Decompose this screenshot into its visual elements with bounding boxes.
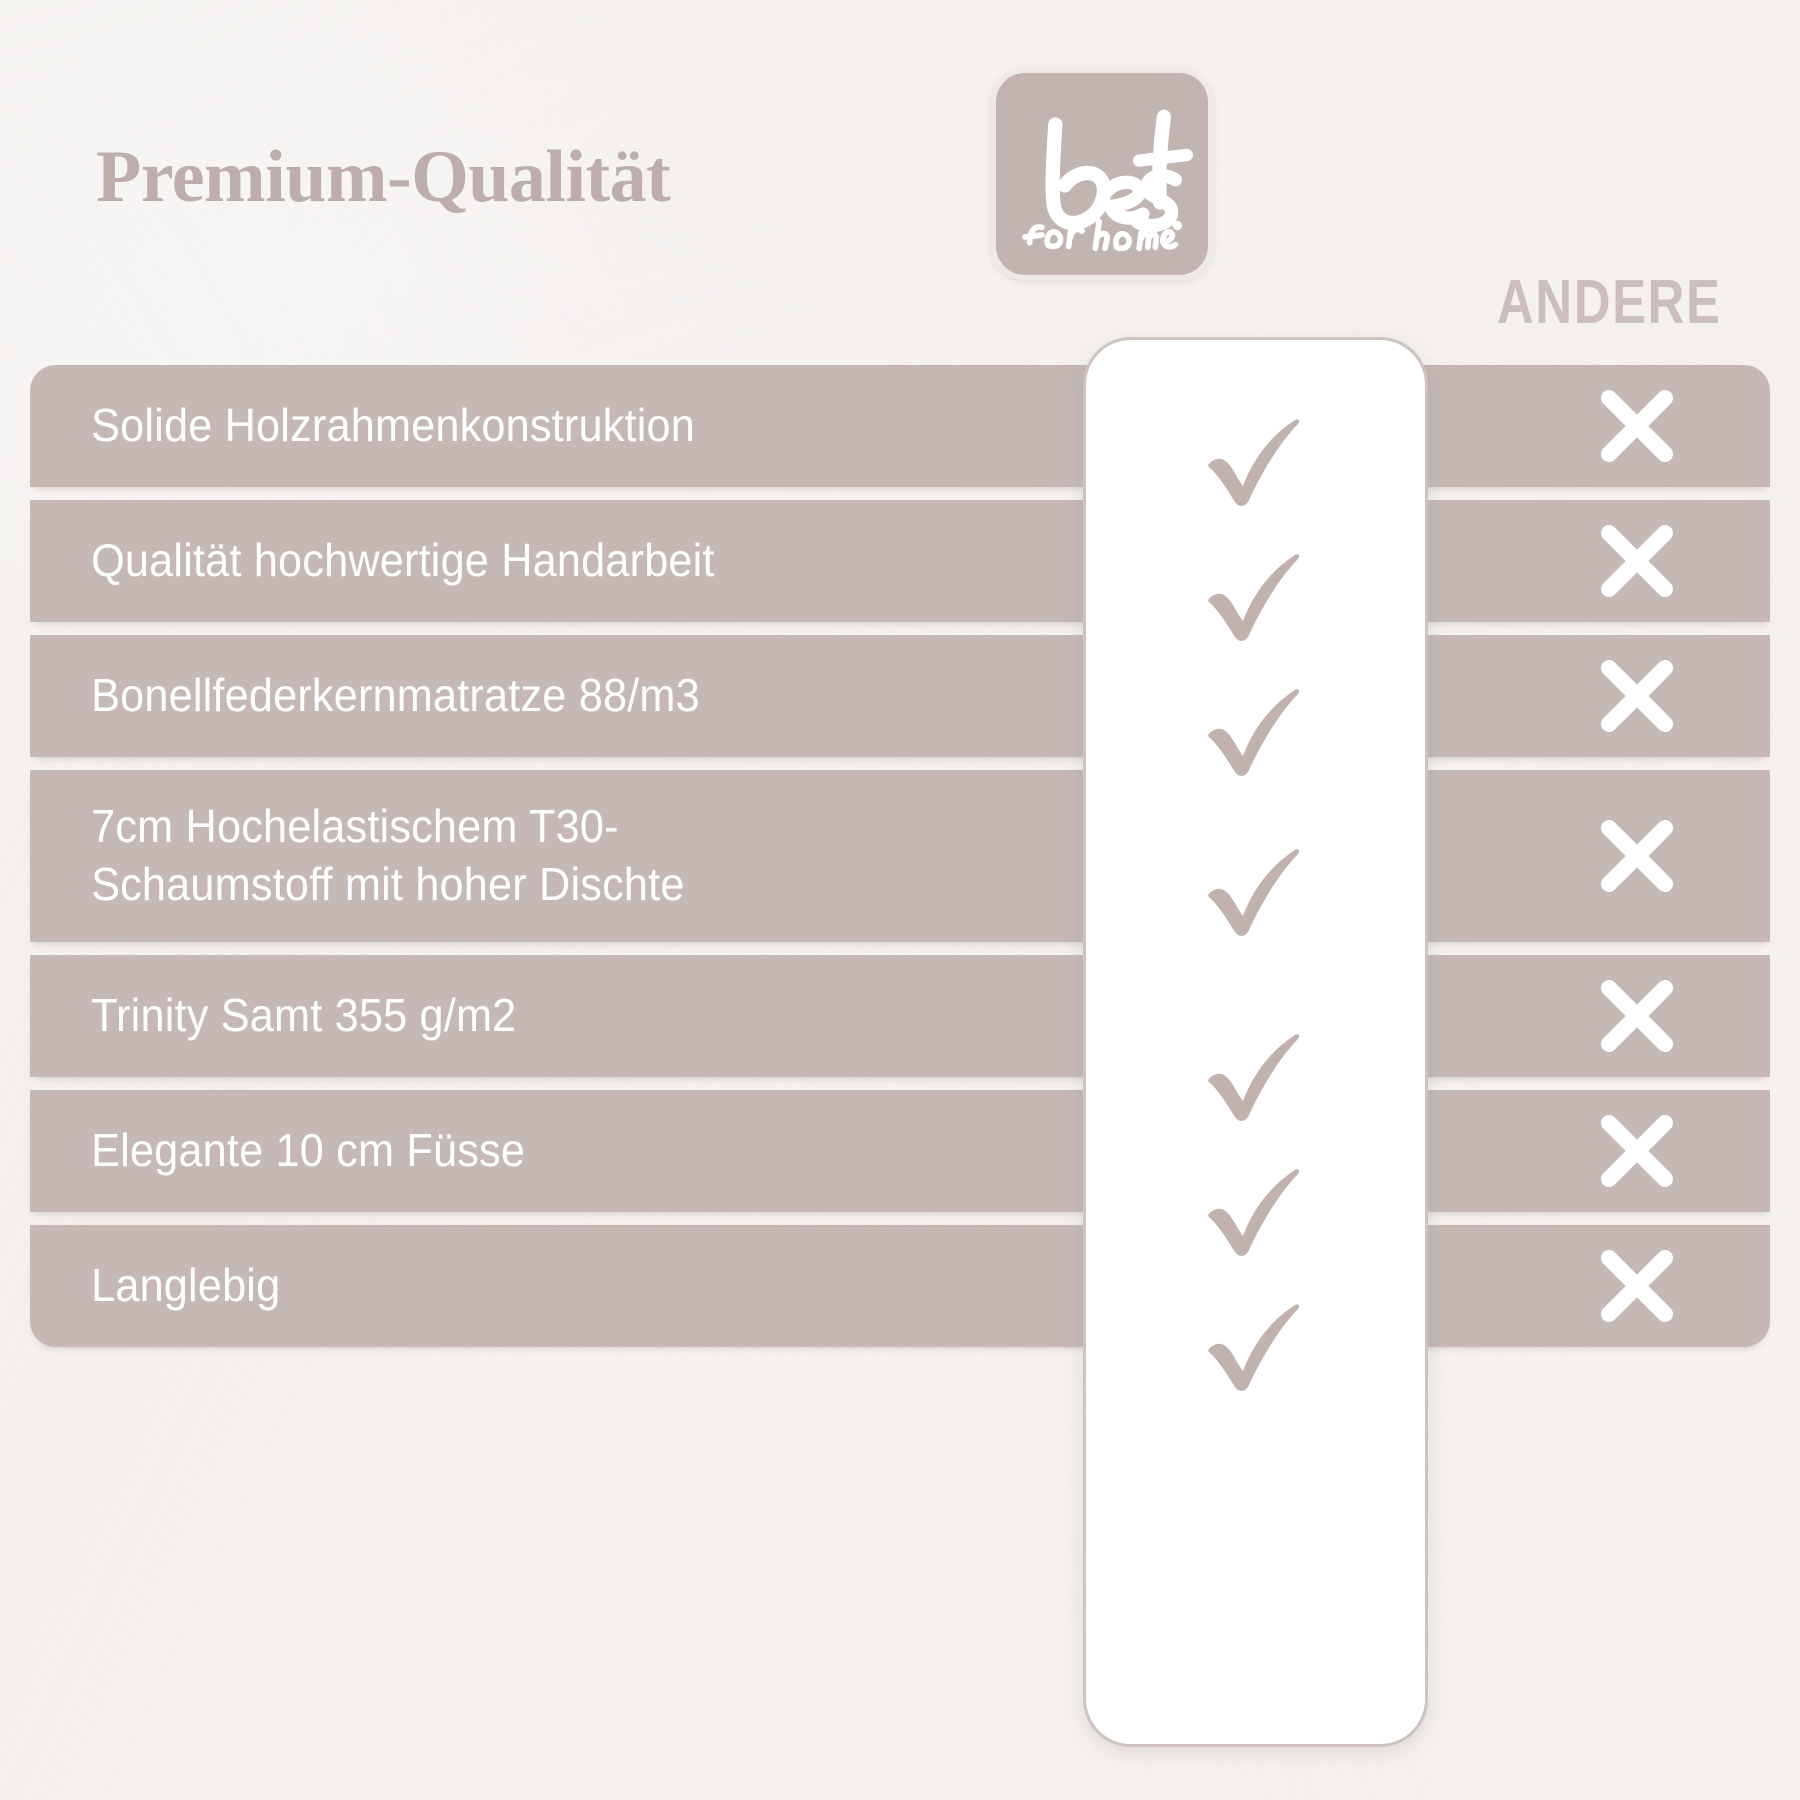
brand-logo: [991, 68, 1213, 280]
check-mark-icon: [1191, 666, 1321, 788]
table-row: Bonellfederkernmatratze 88/m3: [30, 635, 1770, 757]
best-column-checks: [1086, 368, 1425, 1747]
best-column-highlight: [1083, 337, 1428, 1747]
table-row: Trinity Samt 355 g/m2: [30, 955, 1770, 1077]
feature-label: Elegante 10 cm Füsse: [30, 1122, 857, 1180]
comparison-table: Solide Holzrahmenkonstruktion Qualität h…: [30, 365, 1770, 1347]
cross-mark-icon: [1595, 974, 1679, 1058]
table-row: 7cm Hochelastischem T30- Schaumstoff mit…: [30, 770, 1770, 942]
other-column-header: ANDERE: [1497, 272, 1722, 334]
check-mark-icon: [1191, 1011, 1321, 1133]
check-mark-icon: [1191, 396, 1321, 518]
feature-label: Qualität hochwertige Handarbeit: [30, 532, 857, 590]
table-row: Elegante 10 cm Füsse: [30, 1090, 1770, 1212]
feature-label: Solide Holzrahmenkonstruktion: [30, 397, 857, 455]
cross-mark-icon: [1595, 519, 1679, 603]
cross-mark-icon: [1595, 654, 1679, 738]
cross-mark-icon: [1595, 1244, 1679, 1328]
table-row: Solide Holzrahmenkonstruktion: [30, 365, 1770, 487]
cross-mark-icon: [1595, 1109, 1679, 1193]
feature-label: Bonellfederkernmatratze 88/m3: [30, 667, 857, 725]
feature-label: Trinity Samt 355 g/m2: [30, 987, 857, 1045]
feature-label: 7cm Hochelastischem T30- Schaumstoff mit…: [30, 798, 857, 914]
check-mark-icon: [1191, 1281, 1321, 1403]
check-mark-icon: [1191, 1146, 1321, 1268]
feature-label: Langlebig: [30, 1257, 857, 1315]
cross-mark-icon: [1595, 814, 1679, 898]
page-title: Premium-Qualität: [96, 140, 670, 214]
table-row: Qualität hochwertige Handarbeit: [30, 500, 1770, 622]
table-row: Langlebig: [30, 1225, 1770, 1347]
check-mark-icon: [1191, 531, 1321, 653]
check-mark-icon: [1191, 826, 1321, 948]
cross-mark-icon: [1595, 384, 1679, 468]
infographic-canvas: Premium-Qualität: [0, 0, 1800, 1800]
